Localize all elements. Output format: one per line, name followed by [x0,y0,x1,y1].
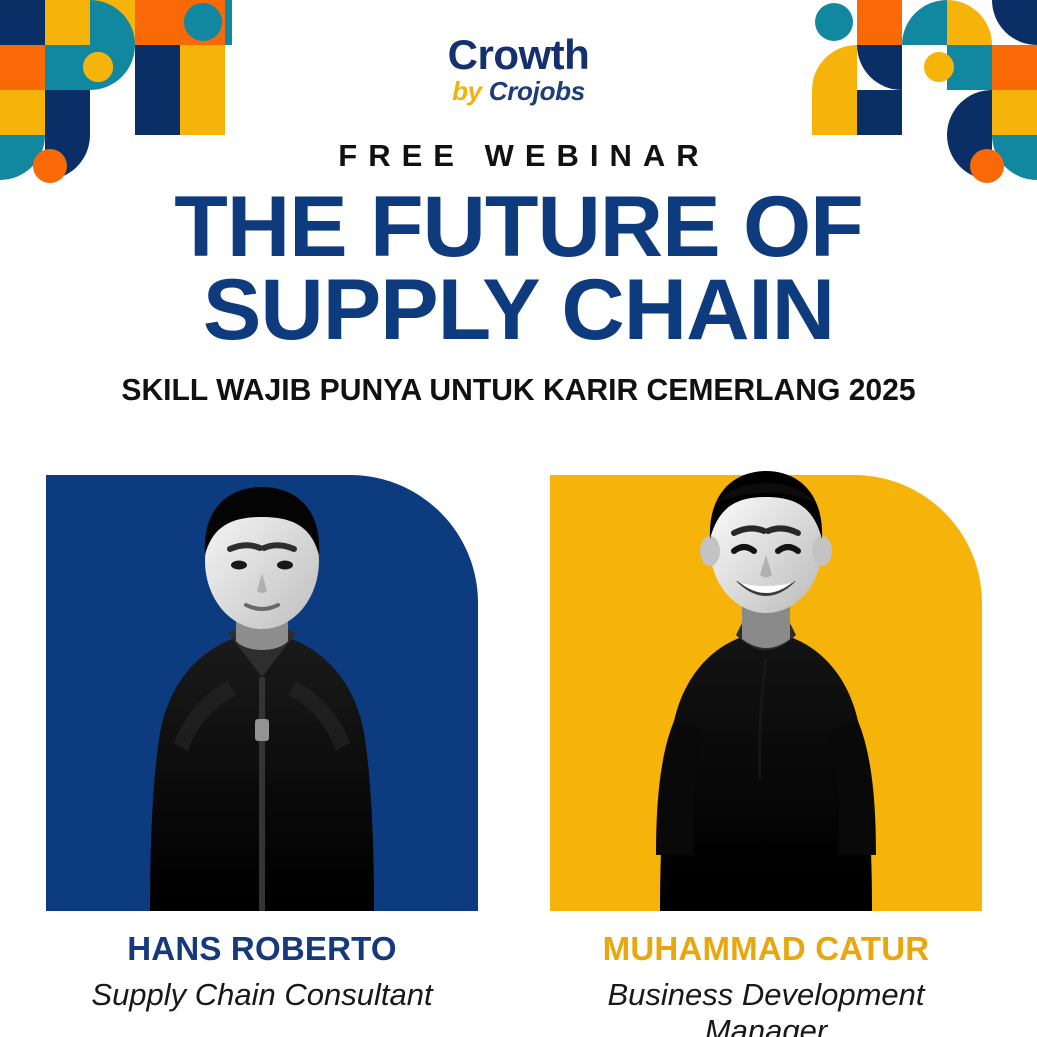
speaker-card-hans-roberto: HANS ROBERTO Supply Chain Consultant [46,437,478,1037]
speaker-role: Supply Chain Consultant [46,977,478,1013]
speaker-portrait-graphic [616,463,916,911]
speaker-name: HANS ROBERTO [46,930,478,968]
page-title: THE FUTURE OF SUPPLY CHAIN [0,186,1037,353]
speaker-portrait-graphic [112,481,412,911]
speaker-name: MUHAMMAD CATUR [550,930,982,968]
speakers-section: HANS ROBERTO Supply Chain Consultant [0,437,1037,1037]
eyebrow-label: FREE WEBINAR [0,138,1037,174]
logo-by-text: by [452,76,489,106]
logo-parent-brand: Crojobs [489,76,585,106]
page-subtitle: SKILL WAJIB PUNYA UNTUK KARIR CEMERLANG … [16,372,1022,408]
speaker-card-muhammad-catur: MUHAMMAD CATUR Business Development Mana… [550,437,982,1037]
speaker-photo [550,437,982,911]
brand-logo: Crowth by Crojobs [0,34,1037,104]
logo-tagline: by Crojobs [0,78,1037,104]
logo-wordmark: Crowth [0,34,1037,76]
page-title-line-1: THE FUTURE OF [0,186,1037,269]
page-title-line-2: SUPPLY CHAIN [0,269,1037,352]
webinar-poster: Crowth by Crojobs FREE WEBINAR THE FUTUR… [0,0,1037,1037]
speaker-photo [46,437,478,911]
speaker-role: Business Development Manager [550,977,982,1037]
